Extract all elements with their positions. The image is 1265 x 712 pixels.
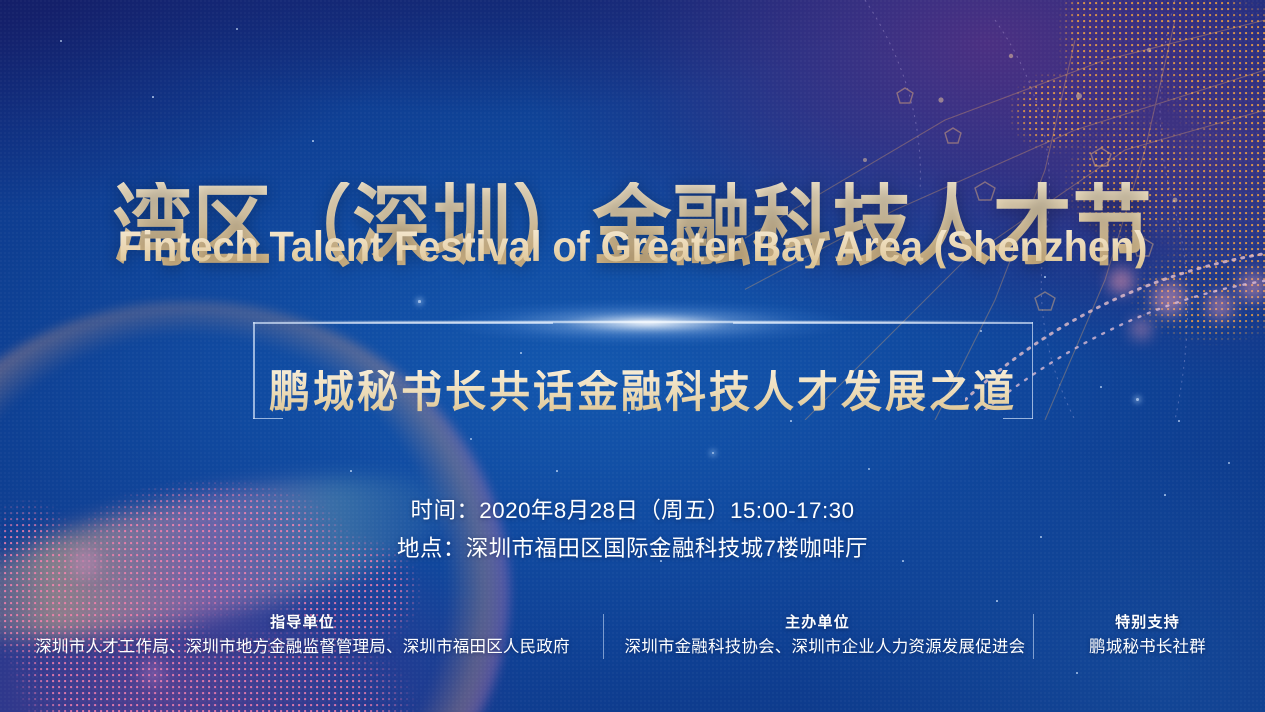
poster-content: 湾区（深圳）金融科技人才节 Fintech Talent Festival of… bbox=[0, 0, 1265, 712]
credit-column-organizer: 主办单位 深圳市金融科技协会、深圳市企业人力资源发展促进会 bbox=[603, 612, 1033, 660]
frame-line-bottom-left bbox=[253, 418, 283, 420]
poster-canvas: 湾区（深圳）金融科技人才节 Fintech Talent Festival of… bbox=[0, 0, 1265, 712]
event-place-line: 地点：深圳市福田区国际金融科技城7楼咖啡厅 bbox=[0, 530, 1265, 568]
footer-credits: 指导单位 深圳市人才工作局、深圳市地方金融监督管理局、深圳市福田区人民政府 主办… bbox=[0, 612, 1265, 660]
poster-title-english: Fintech Talent Festival of Greater Bay A… bbox=[0, 226, 1265, 268]
subtitle-frame: 鹏城秘书长共话金融科技人才发展之道 bbox=[253, 322, 1033, 419]
lens-flare-core bbox=[253, 321, 1033, 323]
credit-column-guidance: 指导单位 深圳市人才工作局、深圳市地方金融监督管理局、深圳市福田区人民政府 bbox=[3, 612, 603, 660]
credit-heading: 主办单位 bbox=[625, 612, 1011, 634]
frame-line-bottom-right bbox=[1003, 418, 1033, 420]
credit-heading: 特别支持 bbox=[1055, 612, 1241, 634]
credit-column-special-support: 特别支持 鹏城秘书长社群 bbox=[1033, 612, 1263, 660]
credit-heading: 指导单位 bbox=[25, 612, 581, 634]
credit-body: 鹏城秘书长社群 bbox=[1055, 634, 1241, 660]
credit-body: 深圳市人才工作局、深圳市地方金融监督管理局、深圳市福田区人民政府 bbox=[25, 634, 581, 660]
credit-body: 深圳市金融科技协会、深圳市企业人力资源发展促进会 bbox=[625, 634, 1011, 660]
event-time-line: 时间：2020年8月28日（周五）15:00-17:30 bbox=[0, 492, 1265, 530]
poster-subtitle: 鹏城秘书长共话金融科技人才发展之道 bbox=[253, 370, 1033, 414]
event-info-block: 时间：2020年8月28日（周五）15:00-17:30 地点：深圳市福田区国际… bbox=[0, 492, 1265, 568]
